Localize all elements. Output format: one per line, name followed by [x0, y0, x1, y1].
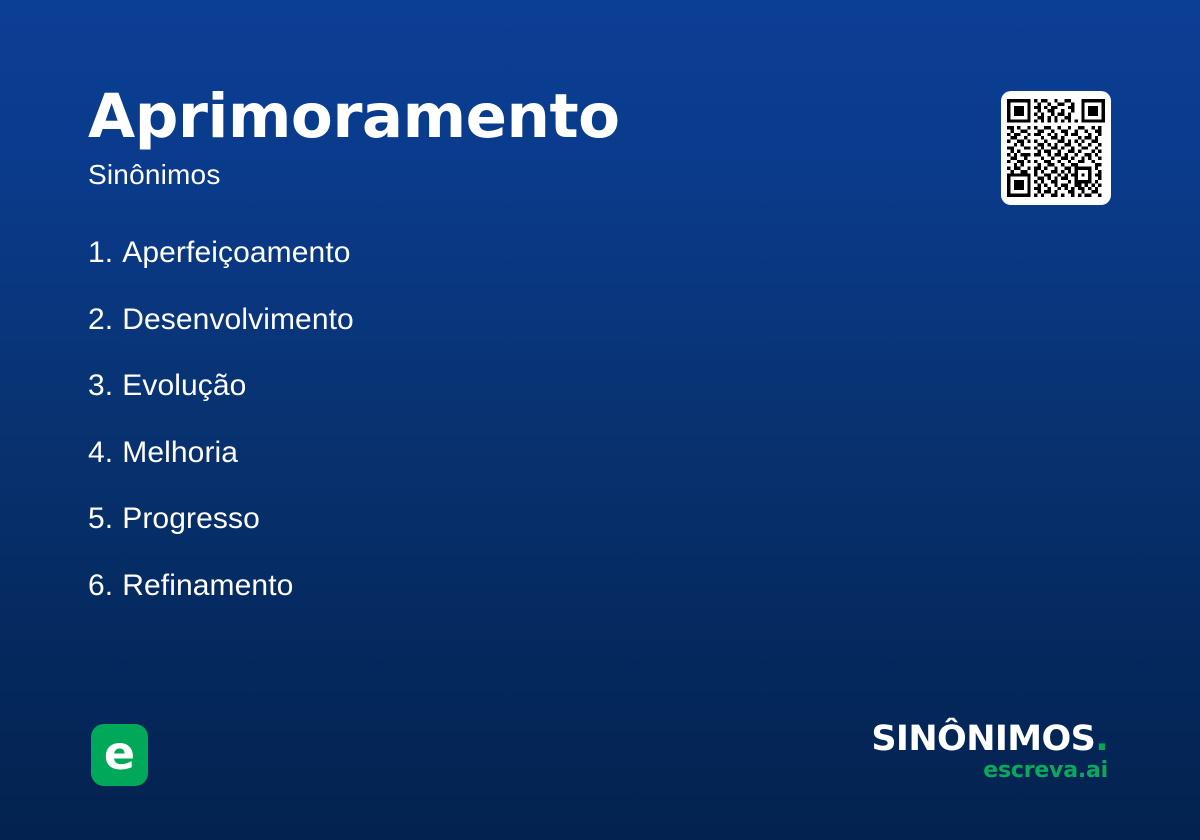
- list-item: 4. Melhoria: [88, 438, 848, 505]
- list-item: 1. Aperfeiçoamento: [88, 238, 848, 305]
- brand-sub: escreva.ai: [871, 760, 1108, 782]
- synonyms-list: 1. Aperfeiçoamento 2. Desenvolvimento 3.…: [88, 238, 848, 637]
- list-item-word: Melhoria: [122, 438, 238, 468]
- brand-lockup: SINÔNIMOS. escreva.ai: [871, 722, 1108, 782]
- list-item-word: Refinamento: [122, 571, 293, 601]
- synonym-card: Aprimoramento Sinônimos: [0, 0, 1200, 840]
- list-item-index: 3.: [88, 371, 113, 401]
- list-item-word: Evolução: [122, 371, 246, 401]
- list-item: 5. Progresso: [88, 504, 848, 571]
- brand-name-text: SINÔNIMOS: [871, 719, 1095, 759]
- brand-name: SINÔNIMOS.: [871, 722, 1108, 757]
- list-item-word: Progresso: [122, 504, 260, 534]
- list-item: 6. Refinamento: [88, 571, 848, 638]
- page-title: Aprimoramento: [88, 86, 788, 147]
- list-item-word: Aperfeiçoamento: [122, 238, 350, 268]
- list-item-index: 2.: [88, 305, 113, 335]
- list-item-index: 5.: [88, 504, 113, 534]
- escreva-e-letter: e: [104, 730, 135, 776]
- page-subtitle: Sinônimos: [88, 161, 788, 189]
- brand-dot-icon: .: [1095, 719, 1108, 759]
- list-item: 2. Desenvolvimento: [88, 305, 848, 372]
- list-item-index: 6.: [88, 571, 113, 601]
- list-item: 3. Evolução: [88, 371, 848, 438]
- escreva-e-icon[interactable]: e: [91, 724, 148, 786]
- qr-code-icon[interactable]: [1001, 91, 1111, 205]
- qr-code-matrix: [1007, 97, 1105, 199]
- list-item-index: 4.: [88, 438, 113, 468]
- list-item-word: Desenvolvimento: [122, 305, 354, 335]
- card-header: Aprimoramento Sinônimos: [88, 86, 788, 189]
- list-item-index: 1.: [88, 238, 113, 268]
